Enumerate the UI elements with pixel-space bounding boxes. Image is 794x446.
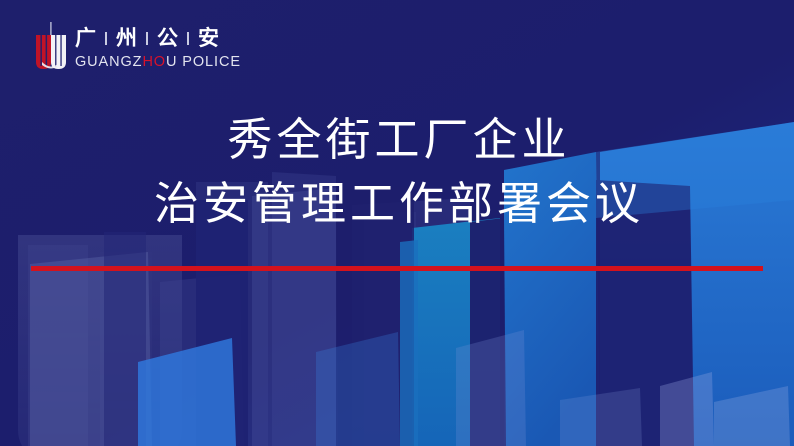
logo-en-prefix: GUANGZ — [75, 54, 142, 70]
decor-tile-2 — [316, 332, 400, 446]
logo-cn-char-2: 州 — [116, 28, 137, 49]
logo-chinese-name: 广 州 公 安 — [75, 26, 241, 51]
logo-text-column: 广 州 公 安 GUANGZHOU POLICE — [75, 22, 241, 70]
logo-cn-char-4: 安 — [198, 28, 219, 49]
logo-cn-separator-2 — [146, 32, 148, 45]
logo-english-name: GUANGZHOU POLICE — [75, 54, 241, 70]
guangzhou-police-logo: 广 州 公 安 GUANGZHOU POLICE — [33, 22, 241, 74]
red-divider-rule — [31, 266, 763, 271]
logo-cn-separator-3 — [187, 32, 189, 45]
logo-cn-char-3: 公 — [157, 28, 178, 49]
title-line-2: 治安管理工作部署会议 — [0, 172, 794, 236]
logo-cn-separator-1 — [105, 32, 107, 45]
logo-en-highlight: HO — [142, 54, 166, 70]
logo-cn-char-1: 广 — [75, 28, 96, 49]
title-line-1: 秀全街工厂企业 — [0, 108, 794, 172]
decor-tile-3 — [456, 330, 526, 446]
slide-title: 秀全街工厂企业 治安管理工作部署会议 — [0, 108, 794, 236]
police-shield-icon — [33, 22, 69, 74]
logo-en-suffix: U POLICE — [166, 54, 241, 70]
presentation-slide: 广 州 公 安 GUANGZHOU POLICE 秀全街工厂企业 治安管理工作部… — [0, 0, 794, 446]
